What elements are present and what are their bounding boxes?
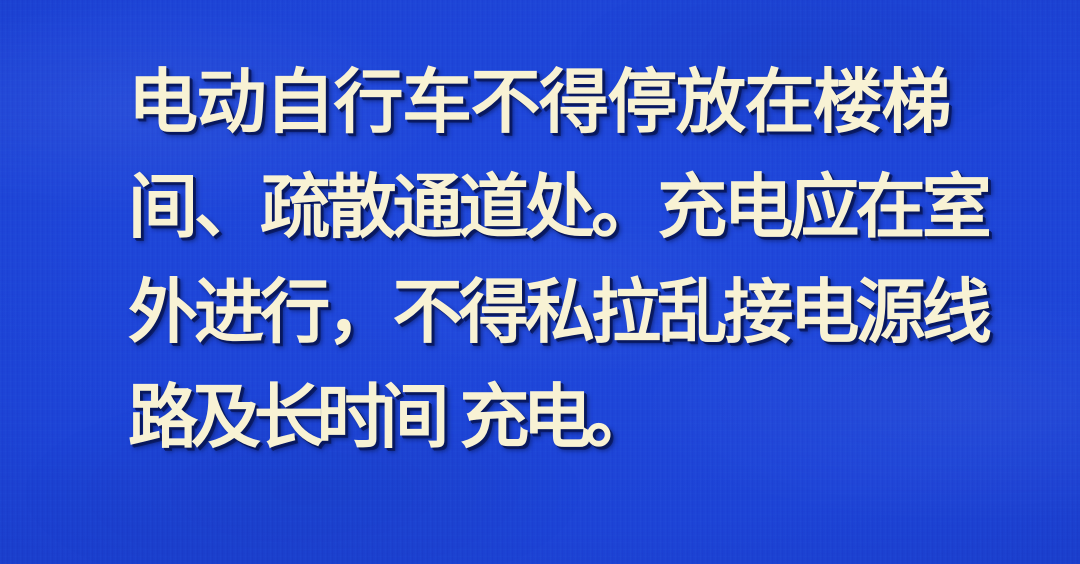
notice-text-line-1: 电动自行车不得停放在楼梯: [128, 62, 1008, 142]
notice-text-line-4: 路及长时间 充电。: [128, 377, 1008, 457]
notice-text-line-2: 间、疏散通道处。充电应在室: [128, 167, 1008, 247]
notice-text-line-3: 外进行，不得私拉乱接电源线: [128, 272, 1008, 352]
notice-text-block: 电动自行车不得停放在楼梯 间、疏散通道处。充电应在室 外进行，不得私拉乱接电源线…: [0, 0, 1080, 564]
poster-canvas: 电动自行车不得停放在楼梯 间、疏散通道处。充电应在室 外进行，不得私拉乱接电源线…: [0, 0, 1080, 564]
